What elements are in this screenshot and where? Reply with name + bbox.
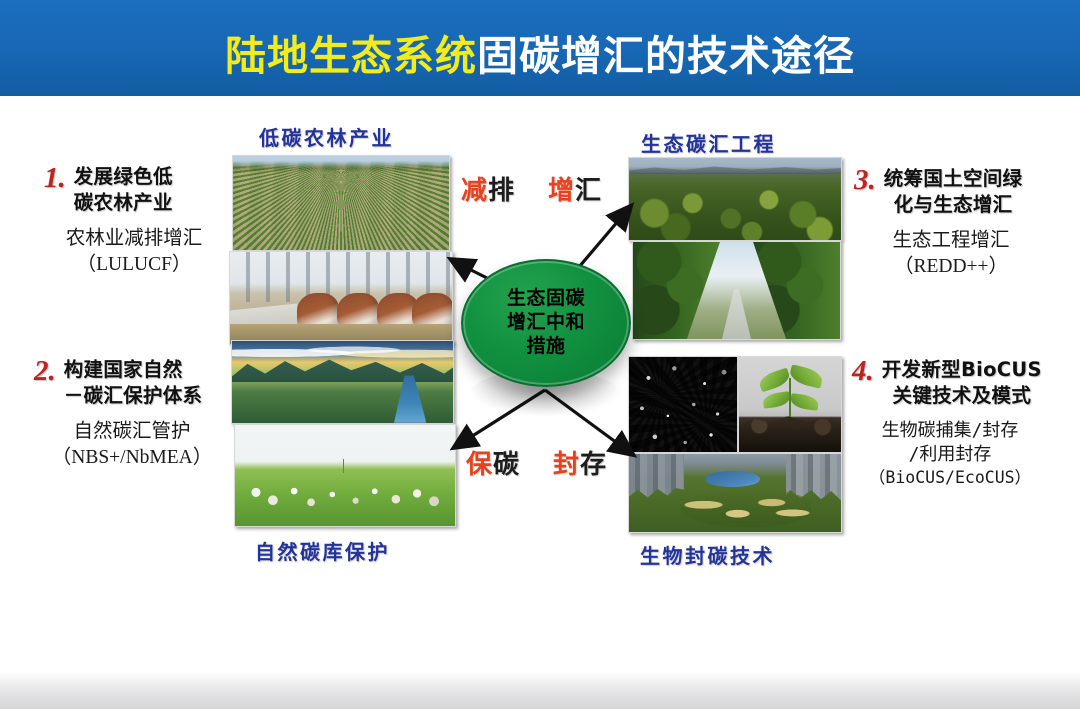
page-title-part-yellow: 陆地生态系统	[225, 32, 477, 80]
item-2-heading: 2. 构建国家自然 －碳汇保护体系	[34, 357, 230, 409]
center-node-line-3: 措施	[507, 335, 585, 359]
flow-label-increase-sink-cold: 汇	[575, 176, 602, 206]
item-4-subtitle: 生物碳捕集/封存 /利用封存 （BioCUS/EcoCUS）	[832, 419, 1068, 490]
item-2-title: 构建国家自然 －碳汇保护体系	[64, 357, 203, 409]
item-2-number: 2.	[34, 357, 56, 386]
caption-bottom-right: 生物封碳技术	[640, 540, 775, 569]
flow-label-reduce-emission: 减排	[461, 170, 515, 207]
center-node-line-1: 生态固碳	[507, 287, 585, 311]
flow-label-sequester-carbon: 封存	[553, 444, 607, 481]
item-3-subtitle-line-1: 生态工程增汇	[836, 228, 1066, 254]
flow-label-preserve-carbon-cold: 碳	[493, 450, 520, 480]
biochar-microstructure-photo	[628, 356, 738, 453]
item-2-subtitle-line-1: 自然碳汇管护	[34, 419, 230, 445]
caption-bottom-left: 自然碳库保护	[255, 536, 390, 565]
item-1-number: 1.	[44, 164, 66, 193]
item-1-subtitle-line-1: 农林业减排增汇	[44, 226, 224, 252]
item-1-low-carbon-agriculture: 1. 发展绿色低 碳农林产业 农林业减排增汇 （LULUCF）	[44, 164, 224, 278]
item-1-subtitle: 农林业减排增汇 （LULUCF）	[44, 226, 224, 279]
footer-gradient-band	[0, 671, 1080, 709]
karst-river-landscape-photo	[231, 340, 454, 424]
item-1-title: 发展绿色低 碳农林产业	[74, 164, 173, 216]
flow-label-increase-sink: 增汇	[548, 170, 602, 207]
item-2-subtitle-line-2: （NBS+/NbMEA）	[34, 445, 230, 471]
item-3-subtitle-line-2: （REDD++）	[836, 254, 1066, 280]
item-3-title: 统筹国土空间绿 化与生态增汇	[884, 166, 1023, 218]
item-3-title-line-1: 统筹国土空间绿	[884, 166, 1023, 192]
item-2-national-natural-carbon-sink: 2. 构建国家自然 －碳汇保护体系 自然碳汇管护 （NBS+/NbMEA）	[34, 357, 230, 471]
page-title-part-white: 固碳增汇的技术途径	[477, 32, 855, 80]
item-4-title-line-1: 开发新型BioCUS	[882, 357, 1042, 383]
center-node-line-2: 增汇中和	[507, 311, 585, 335]
item-4-biocus-development: 4. 开发新型BioCUS 关键技术及模式 生物碳捕集/封存 /利用封存 （Bi…	[852, 357, 1068, 490]
center-node-ecological-carbon-measures: 生态固碳 增汇中和 措施	[461, 259, 631, 387]
item-4-subtitle-line-3: （BioCUS/EcoCUS）	[832, 467, 1068, 489]
flow-label-preserve-carbon-hot: 保	[466, 450, 493, 480]
item-3-number: 3.	[854, 166, 876, 195]
flow-label-sequester-carbon-hot: 封	[553, 450, 580, 480]
item-2-title-line-2: －碳汇保护体系	[64, 383, 203, 409]
item-4-title-line-2: 关键技术及模式	[882, 383, 1042, 409]
flow-label-sequester-carbon-cold: 存	[580, 450, 607, 480]
forested-mountain-photo	[628, 157, 842, 241]
arrow-to-low-carbon-agriculture	[452, 260, 470, 270]
aerial-urban-park-photo	[628, 453, 842, 533]
grassland-grazing-sheep-photo	[234, 424, 456, 527]
item-4-number: 4.	[852, 357, 874, 386]
crop-field-rows-photo	[232, 155, 450, 251]
tree-lined-railway-photo	[632, 241, 841, 340]
caption-top-right: 生态碳汇工程	[641, 128, 776, 157]
cattle-feeding-barn-photo	[229, 251, 453, 345]
flow-label-preserve-carbon: 保碳	[466, 444, 520, 481]
item-1-heading: 1. 发展绿色低 碳农林产业	[44, 164, 224, 216]
flow-label-reduce-emission-hot: 减	[461, 176, 488, 206]
slide-content-area: 低碳农林产业 生态碳汇工程 自然碳库保护 生物封碳技术	[0, 102, 1080, 607]
item-3-territorial-greening: 3. 统筹国土空间绿 化与生态增汇 生态工程增汇 （REDD++）	[854, 166, 1066, 280]
caption-top-left: 低碳农林产业	[259, 122, 394, 151]
item-1-title-line-2: 碳农林产业	[74, 190, 173, 216]
item-4-heading: 4. 开发新型BioCUS 关键技术及模式	[852, 357, 1068, 409]
item-4-title: 开发新型BioCUS 关键技术及模式	[882, 357, 1042, 409]
item-4-subtitle-line-1: 生物碳捕集/封存	[832, 419, 1068, 443]
item-4-subtitle-line-2: /利用封存	[832, 443, 1068, 467]
flow-label-increase-sink-hot: 增	[548, 176, 575, 206]
item-3-subtitle: 生态工程增汇 （REDD++）	[836, 228, 1066, 281]
item-2-subtitle: 自然碳汇管护 （NBS+/NbMEA）	[34, 419, 230, 472]
item-1-subtitle-line-2: （LULUCF）	[44, 252, 224, 278]
page-title: 陆地生态系统固碳增汇的技术途径	[0, 22, 1080, 82]
item-2-title-line-1: 构建国家自然	[64, 357, 203, 383]
flow-label-reduce-emission-cold: 排	[488, 176, 515, 206]
item-1-title-line-1: 发展绿色低	[74, 164, 173, 190]
item-3-heading: 3. 统筹国土空间绿 化与生态增汇	[854, 166, 1066, 218]
seedling-in-dark-soil-photo	[738, 356, 842, 453]
item-3-title-line-2: 化与生态增汇	[884, 192, 1023, 218]
